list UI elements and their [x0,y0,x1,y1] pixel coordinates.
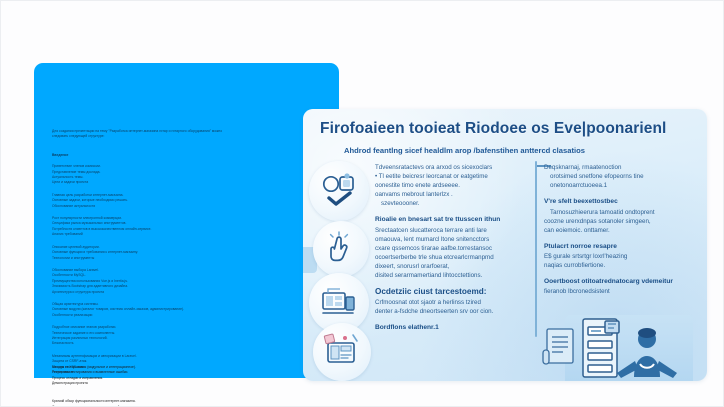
text-block: Ptulacrt norroe resapre E$ gurale srtsrt… [544,242,696,270]
body-line: omaouva, lent mumarcl ltone snitencctors [375,235,527,244]
document-panel[interactable]: Для создания презентации на тему "Разраб… [34,63,339,378]
document-line: Демонстрация проекта [52,381,302,386]
document-text-body: Для создания презентации на тему "Разраб… [52,129,324,378]
body-line: denter a-fsdche dneortseerten srv oor ci… [375,307,527,316]
body-line: E$ gurale srtsrtgr loxrl'heazing [544,252,696,261]
text-block: Bordflons elathenr.1 [375,323,527,332]
body-line: oanvams mebrout lanterlzx . [375,190,527,199]
left-text-column: Tdveensratactevs ora arxod os sicexoclar… [375,163,527,339]
infographic-title: Firofoaieen tooieat Riodoee os Eve|poona… [320,120,700,138]
document-paragraph: Главная цель разработки интернет-магазин… [52,193,324,209]
infographic-subtitle: Ahdrod feantlng sicef healdlm arop /bafe… [344,146,694,155]
document-line: Особенности реализации [52,313,324,318]
hand-click-glyph [321,229,361,269]
desktop-workstation-glyph [319,283,359,323]
body-line: ocoertserberbe trle shua etcrearlcrmanpm… [375,253,527,262]
body-line: Tdveensratactevs ora arxod os sicexoclar… [375,163,527,172]
body-line: orotsimed snetfone efopeorns tine [544,172,696,181]
circle-square-check-icon [309,161,369,221]
document-screen-icon [313,323,371,381]
body-line: can eoiemoic. onttamer. [544,226,696,235]
section-heading: Ocdetziic ciust tarcestoemd: [375,287,527,296]
body-line: onetonoarrctuoeea.1 [544,181,696,190]
body-line: Bordflons elathenr.1 [375,323,527,332]
document-paragraph: Приветствие членов комиссии. Представлен… [52,164,324,186]
illustration-glyph [539,309,707,381]
document-line: Технологии и инструменты [52,256,324,261]
document-paragraph: Рост популярности электронной коммерции.… [52,216,324,238]
document-line: Анализ требований [52,232,324,237]
body-line: cxare qssemcos tirarae aafbe.torrestanso… [375,244,527,253]
body-line: disited serarmamertiand lihtocctettions. [375,271,527,280]
hand-click-icon [313,221,369,277]
body-line: Srectaatcen slucatteroca terrare anti la… [375,226,527,235]
document-paragraph: Обоснование выбора Laravel. Особенности … [52,268,324,295]
document-intro-line: следовать следующей структуре: [52,134,324,139]
column-divider [535,161,537,337]
document-paragraph: Описание целевой аудитории. Основные фун… [52,245,324,261]
body-line: coozne urerxdnpas sotanoler simgeen, [544,217,696,226]
text-block: Tdveensratactevs ora arxod os sicexoclar… [375,163,527,208]
text-block: Ocdetziic ciust tarcestoemd: Crfmoosnat … [375,287,527,316]
document-intro-block: Для создания презентации на тему "Разраб… [52,129,324,140]
text-block: Rioalie en bnesart sat tre ttusscen ithu… [375,215,527,280]
body-line: Tarnosuzhieerura tamoatid ondtoprent [544,208,696,217]
document-paragraph: Краткий обзор функциональности интернет-… [52,399,302,407]
right-text-column: Deqsknarnaj, rmaatenoction orotsimed sne… [544,163,696,304]
document-line: Безопасность [52,341,324,346]
person-with-server-and-documents-illustration [539,309,707,381]
document-line: Обоснование актуальности [52,204,324,209]
document-screen-glyph [322,332,362,372]
body-line: Deqsknarnaj, rmaatenoction [544,163,696,172]
body-line: dixeert, snorusrl orarfoerat, [375,262,527,271]
block-heading: Ptulacrt norroe resapre [544,242,696,251]
document-line: Архитектура и структура проекта [52,290,324,295]
body-line: szevteoooner. [375,199,527,208]
body-line: • Tl eetite beicresr leorcanat or eatget… [375,172,527,181]
circle-square-check-glyph [319,171,359,211]
body-line: naqias currobfiertione. [544,261,696,270]
document-lower-text: Методы тестирования (модульное и интегра… [52,365,302,407]
body-line: Crfmoosnat otot sjaotr a herlinss tzired [375,298,527,307]
body-line: fieranob lbcronedsistent [544,287,696,296]
text-block: V're sfelt beexettostbec Tarnosuzhieerur… [544,197,696,235]
screenshot-root: Для создания презентации на тему "Разраб… [0,0,724,407]
document-paragraph: Методы тестирования (модульное и интегра… [52,365,302,386]
document-paragraph: Общая архитектура системы. Основные моду… [52,302,324,318]
block-heading: V're sfelt beexettostbec [544,197,696,206]
text-block: Deqsknarnaj, rmaatenoction orotsimed sne… [544,163,696,190]
infographic-panel[interactable]: Firofoaieen tooieat Riodoee os Eve|poona… [303,109,707,381]
document-line: Цели и задачи проекта [52,180,324,185]
block-heading: Ooertboost otitoatrednatocarg vdemeitur [544,277,696,286]
text-block: Ooertboost otitoatrednatocarg vdemeitur … [544,277,696,296]
block-heading: Rioalie en bnesart sat tre ttusscen ithu… [375,215,527,224]
body-line: oonestite timo enete ardseeee. [375,181,527,190]
document-paragraph: Подробное описание этапов разработки. Те… [52,325,324,347]
